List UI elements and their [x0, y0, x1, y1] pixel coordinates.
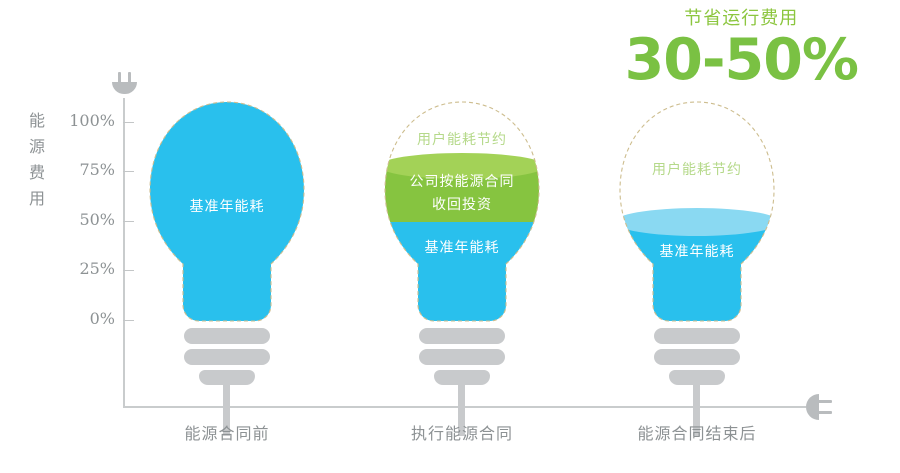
- bulb-2-blue-label: 基准年能耗: [379, 238, 545, 259]
- y-tick-mark-0: [123, 320, 134, 321]
- y-axis-title-char-4: 用: [26, 186, 48, 212]
- bulb-2-green-label-line2: 收回投资: [379, 195, 545, 216]
- cap-ring: [419, 349, 505, 365]
- headline-value: 30-50%: [625, 32, 858, 88]
- y-tick-label-75: 75%: [55, 160, 115, 179]
- cap-ring: [669, 370, 725, 385]
- bulb-2-top-label: 用户能耗节约: [379, 130, 545, 151]
- y-tick-mark-25: [123, 270, 134, 271]
- plug-prong-bottom: [817, 411, 832, 414]
- y-tick-mark-100: [123, 122, 134, 123]
- y-tick-label-50: 50%: [55, 210, 115, 229]
- headline-block: 节省运行费用 30-50%: [625, 6, 858, 88]
- y-tick-label-100: 100%: [55, 111, 115, 130]
- bulb-after-contract: 用户能耗节约 基准年能耗: [614, 100, 780, 440]
- y-tick-label-0: 0%: [55, 309, 115, 328]
- cap-ring: [434, 370, 490, 385]
- bulb-1-blue-label: 基准年能耗: [144, 197, 310, 218]
- cap-ring: [654, 328, 740, 344]
- cap-ring: [419, 328, 505, 344]
- bulb-shape-3: [614, 100, 780, 325]
- y-axis-title-char-2: 源: [26, 134, 48, 160]
- y-axis-title-char-3: 费: [26, 160, 48, 186]
- bulb-cap-3: [614, 328, 780, 390]
- bulb-body-3: 用户能耗节约 基准年能耗: [614, 100, 780, 325]
- power-plug-icon-right: [806, 392, 836, 422]
- plug-body: [112, 82, 137, 94]
- bulb-cap-1: [144, 328, 310, 390]
- y-tick-label-25: 25%: [55, 259, 115, 278]
- y-tick-mark-50: [123, 221, 134, 222]
- y-tick-mark-75: [123, 171, 134, 172]
- x-axis-label-3: 能源合同结束后: [597, 420, 797, 444]
- plug-prong-top: [817, 400, 832, 403]
- bulb-before-contract: 基准年能耗: [144, 100, 310, 440]
- plug-body: [806, 394, 819, 420]
- bulb-cap-2: [379, 328, 545, 390]
- bulb-3-top-label: 用户能耗节约: [614, 160, 780, 181]
- cap-ring: [199, 370, 255, 385]
- bulb-body-1: 基准年能耗: [144, 100, 310, 325]
- cap-ring: [184, 328, 270, 344]
- y-axis-title: 能 源 费 用: [26, 108, 48, 212]
- infographic-chart: 节省运行费用 30-50% 能 源 费 用 100% 75% 50% 25% 0…: [0, 0, 900, 473]
- cap-ring: [654, 349, 740, 365]
- power-plug-icon-top: [112, 72, 137, 100]
- x-axis-label-1: 能源合同前: [127, 420, 327, 444]
- y-axis-line: [123, 98, 125, 408]
- cap-ring: [184, 349, 270, 365]
- y-axis-title-char-1: 能: [26, 108, 48, 134]
- bulb-3-blue-label: 基准年能耗: [614, 242, 780, 263]
- x-axis-label-2: 执行能源合同: [362, 420, 562, 444]
- bulb-2-green-label-line1: 公司按能源合同: [379, 172, 545, 193]
- bulb-during-contract: 用户能耗节约 公司按能源合同 收回投资 基准年能耗: [379, 100, 545, 440]
- bulb-body-2: 用户能耗节约 公司按能源合同 收回投资 基准年能耗: [379, 100, 545, 325]
